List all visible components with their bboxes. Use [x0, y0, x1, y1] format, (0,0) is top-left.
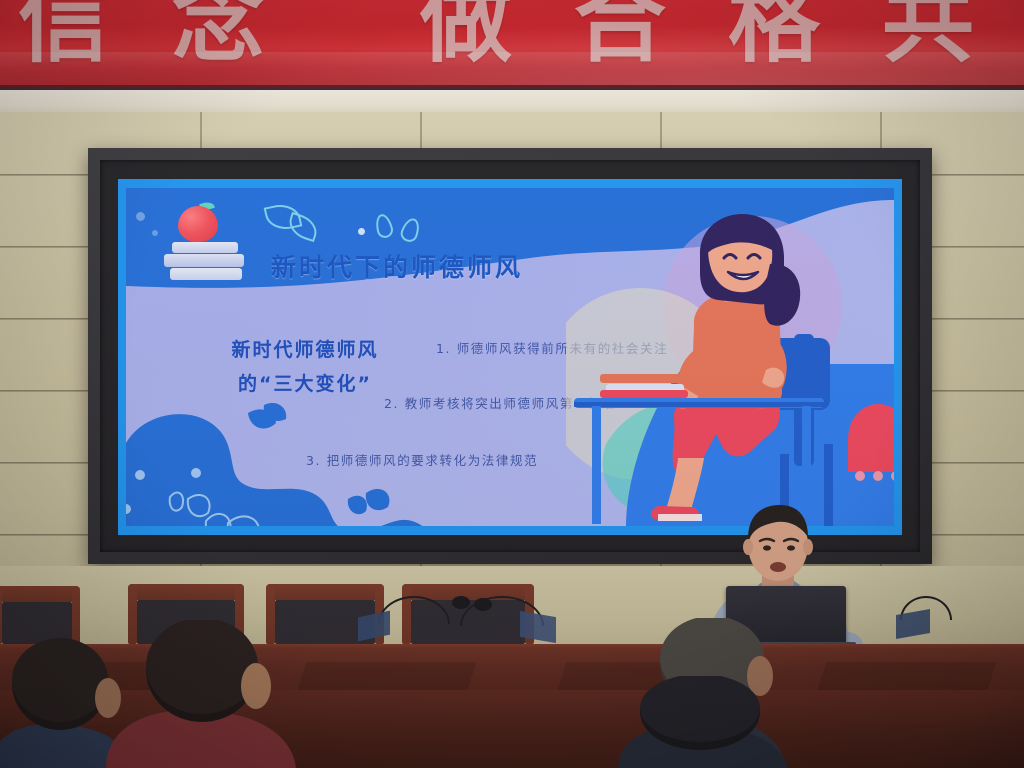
microphone-head: [474, 598, 492, 611]
slide-lead-heading: 新时代师德师风 的“三大变化”: [180, 333, 430, 401]
decorative-dot: [152, 230, 158, 236]
slide-title: 新时代下的师德师风: [271, 248, 523, 284]
student-illustration: [566, 214, 894, 526]
microphone-head: [452, 596, 470, 609]
presentation-slide: 新时代下的师德师风 新时代师德师风 的“三大变化” 1. 师德师风获得前所未有的…: [118, 179, 902, 535]
red-banner: 信念 做合格共: [0, 0, 1024, 88]
lead-line-1: 新时代师德师风: [180, 333, 430, 367]
book-icon: [170, 268, 242, 280]
book-icon: [164, 254, 244, 267]
audience-member-4: [618, 676, 798, 768]
audience-member-2: [100, 620, 320, 768]
book-icon: [172, 242, 238, 253]
banner-glare: [0, 0, 1024, 88]
decorative-dot: [358, 228, 365, 235]
slide-canvas: 新时代下的师德师风 新时代师德师风 的“三大变化” 1. 师德师风获得前所未有的…: [126, 188, 894, 526]
decorative-dot: [136, 212, 145, 221]
apple-icon: [178, 206, 218, 242]
blue-blob-shape: [126, 403, 446, 526]
projection-screen-frame: 新时代下的师德师风 新时代师德师风 的“三大变化” 1. 师德师风获得前所未有的…: [88, 148, 932, 564]
photo-scene: 信念 做合格共: [0, 0, 1024, 768]
